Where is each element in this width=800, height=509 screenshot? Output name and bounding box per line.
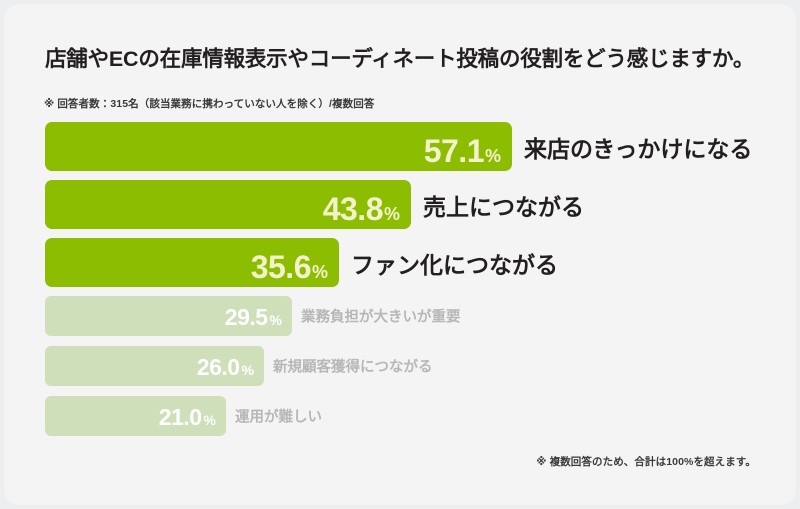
chart-row: 57.1% 来店のきっかけになる <box>4 122 796 171</box>
bar-primary: 35.6% <box>45 238 339 287</box>
chart-row: 35.6% ファン化につながる <box>4 238 796 287</box>
bar-value: 29.5% <box>225 306 282 329</box>
bar-value: 43.8% <box>323 193 400 225</box>
bar-chart: 57.1% 来店のきっかけになる 43.8% 売上につながる 35.6% ファン… <box>4 122 796 446</box>
percent-symbol: % <box>270 312 282 328</box>
chart-row: 43.8% 売上につながる <box>4 180 796 229</box>
percent-symbol: % <box>312 262 328 282</box>
bar-value: 21.0% <box>159 406 216 429</box>
bar-label: 新規顧客獲得につながる <box>273 356 433 377</box>
chart-row: 29.5% 業務負担が大きいが重要 <box>4 296 796 336</box>
page-title: 店舗やECの在庫情報表示やコーディネート投稿の役割をどう感じますか。 <box>45 42 754 73</box>
bar-label: 売上につながる <box>423 188 584 222</box>
respondents-note: ※ 回答者数：315名（該当業務に携わっていない人を除く）/複数回答 <box>44 96 374 111</box>
bar-secondary: 21.0% <box>45 396 226 436</box>
chart-row: 26.0% 新規顧客獲得につながる <box>4 346 796 386</box>
footnote: ※ 複数回答のため、合計は100%を超えます。 <box>536 454 756 469</box>
bar-label: 運用が難しい <box>235 406 322 427</box>
bar-primary: 57.1% <box>45 122 512 171</box>
bar-label: 来店のきっかけになる <box>524 130 752 164</box>
bar-label: ファン化につながる <box>351 246 558 280</box>
percent-symbol: % <box>384 204 400 224</box>
bar-secondary: 26.0% <box>45 346 264 386</box>
percent-symbol: % <box>242 362 254 378</box>
bar-value: 26.0% <box>197 356 254 379</box>
bar-value: 35.6% <box>251 251 328 283</box>
chart-card: 店舗やECの在庫情報表示やコーディネート投稿の役割をどう感じますか。 ※ 回答者… <box>4 4 796 505</box>
percent-symbol: % <box>204 412 216 428</box>
percent-symbol: % <box>485 146 501 166</box>
chart-row: 21.0% 運用が難しい <box>4 396 796 436</box>
bar-secondary: 29.5% <box>45 296 292 336</box>
bar-label: 業務負担が大きいが重要 <box>301 306 461 327</box>
bar-primary: 43.8% <box>45 180 411 229</box>
bar-value: 57.1% <box>424 135 501 167</box>
